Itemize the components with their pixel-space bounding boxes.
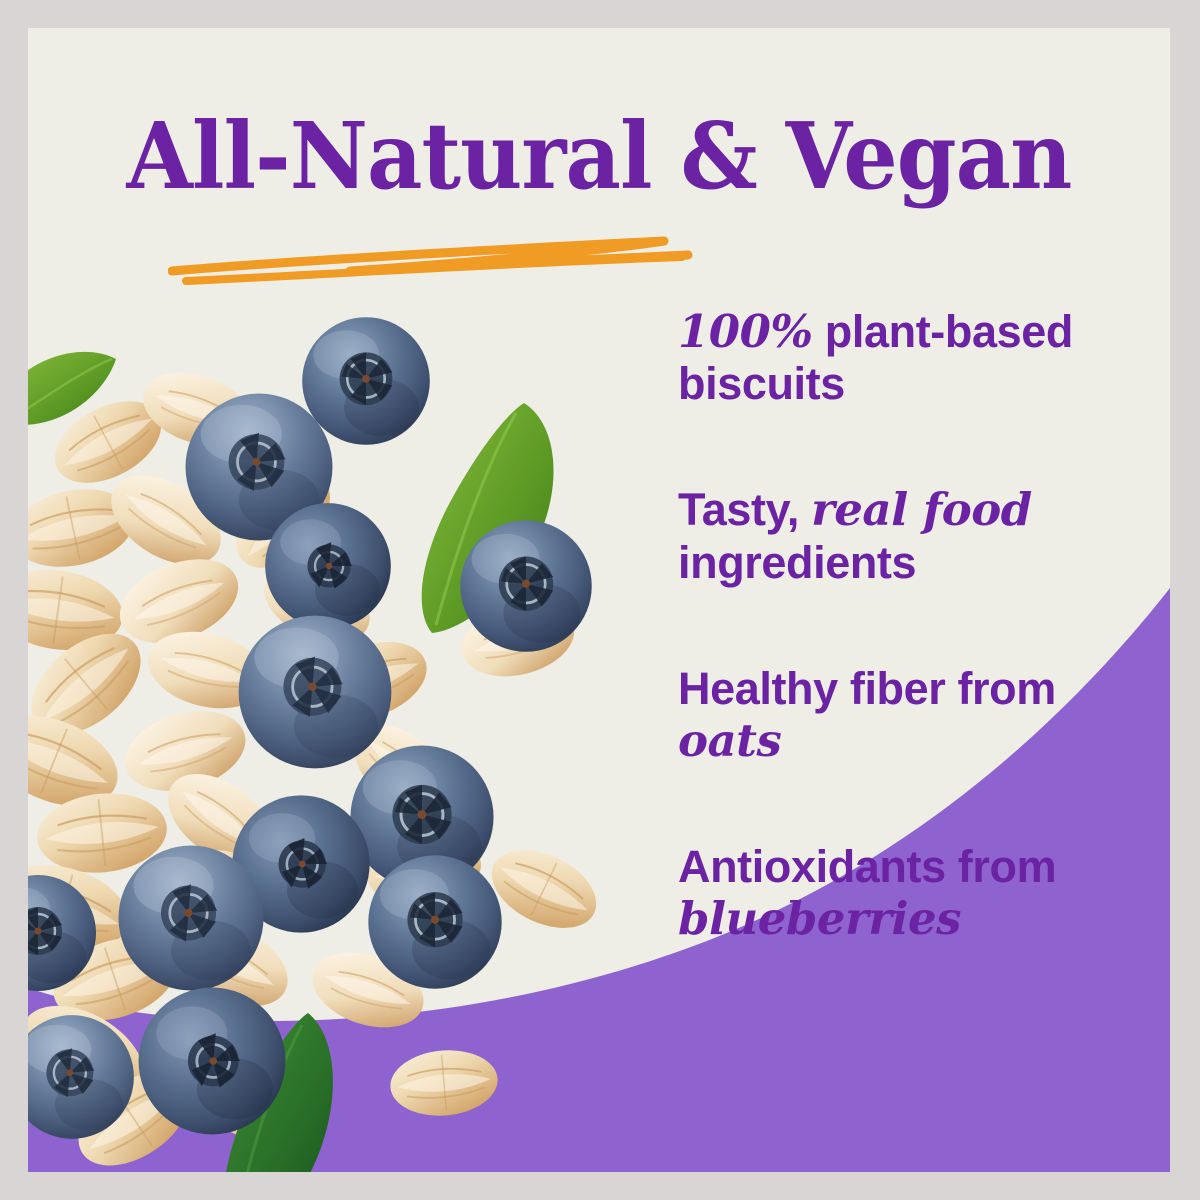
page-title: All-Natural & Vegan [68,110,1130,202]
blueberry [119,846,264,991]
poster-canvas: All-Natural & Vegan 100% plant-based bis… [28,28,1170,1172]
benefits-list: 100% plant-based biscuits Tasty, real fo… [678,306,1118,946]
blueberry [265,503,391,629]
bullet-4-text-pre: Antioxidants from [678,841,1056,892]
blueberries-and-oats-photo [28,313,668,1172]
blueberry [302,317,430,445]
bullet-2-text-post: ingredients [678,537,916,588]
bullet-real-food: Tasty, real food ingredients [678,484,1118,588]
blueberry [139,988,286,1135]
bullet-3-emphasis: oats [678,714,781,767]
bullet-healthy-fiber: Healthy fiber from oats [678,663,1118,767]
bullet-4-emphasis: blueberries [678,892,961,945]
bullet-2-emphasis: real food [811,483,1032,536]
blueberry [368,855,501,988]
blueberry [460,520,591,651]
bullet-plant-based: 100% plant-based biscuits [678,306,1118,410]
bullet-2-text-pre: Tasty, [678,484,811,535]
squiggle-underline-icon [168,231,708,285]
blueberry [239,616,392,769]
bullet-3-text-pre: Healthy fiber from [678,663,1056,714]
bullet-antioxidants: Antioxidants from blueberries [678,841,1118,945]
bullet-1-emphasis: 100% [678,305,813,358]
